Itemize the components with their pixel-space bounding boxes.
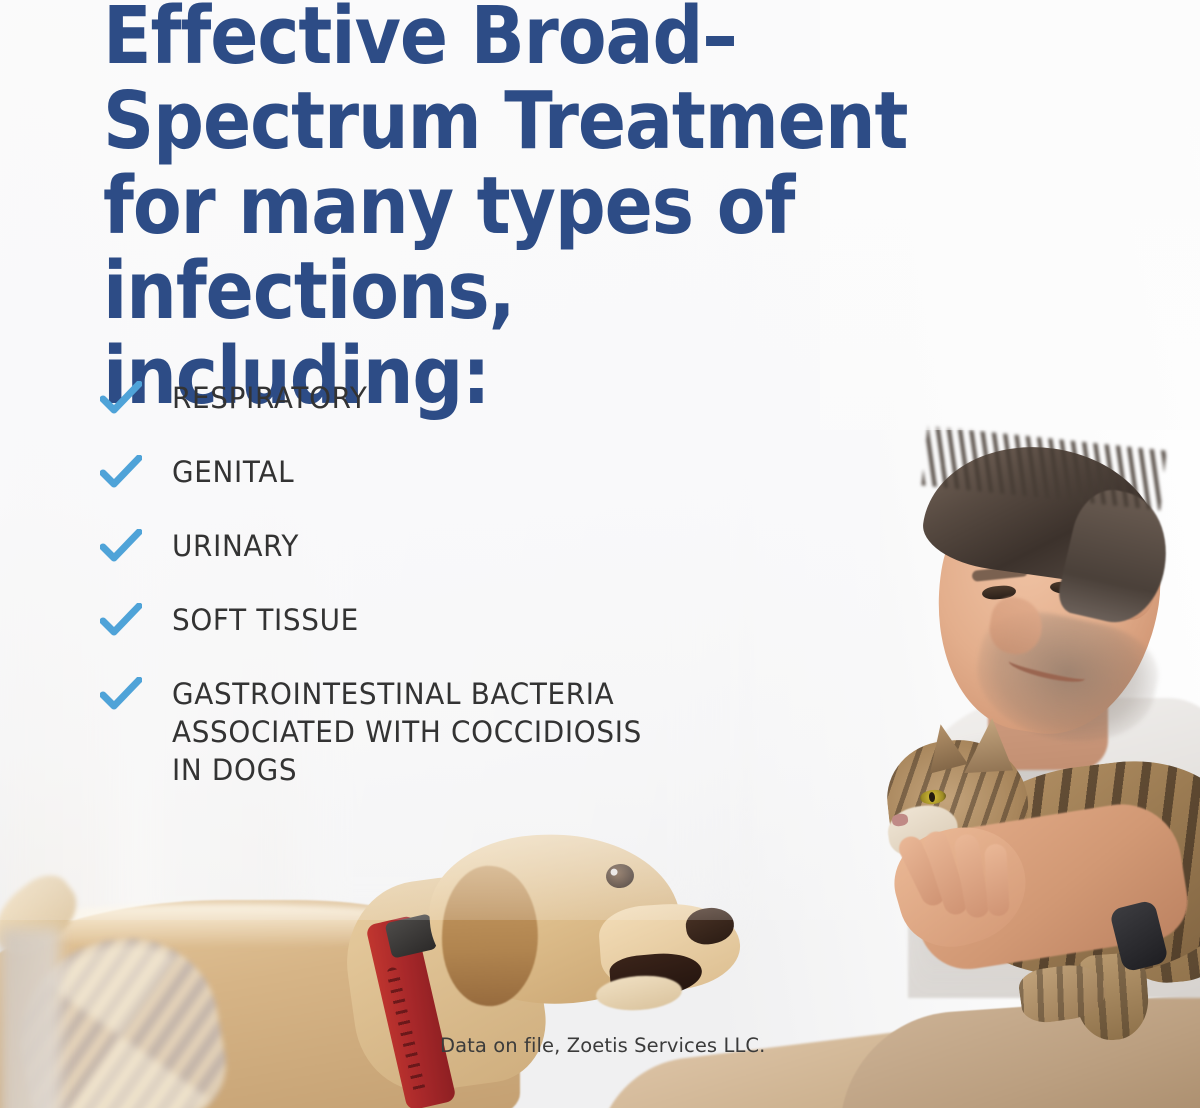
list-item-label: RESPIRATORY: [172, 379, 368, 417]
advertisement-banner: Effective Broad– Spectrum Treatment for …: [0, 0, 1200, 1108]
check-icon: [100, 381, 142, 415]
footnote-citation: Data on file, Zoetis Services LLC.: [440, 1034, 765, 1058]
check-icon: [100, 677, 142, 711]
man-finger: [984, 843, 1010, 916]
list-item-label: GASTROINTESTINAL BACTERIA ASSOCIATED WIT…: [172, 675, 642, 789]
list-item: GENITAL: [100, 453, 890, 491]
check-icon: [100, 455, 142, 489]
list-item: GASTROINTESTINAL BACTERIA ASSOCIATED WIT…: [100, 675, 890, 789]
list-item-label: URINARY: [172, 527, 299, 565]
benefit-list: RESPIRATORY GENITAL URINARY: [100, 379, 890, 789]
list-item: RESPIRATORY: [100, 379, 890, 417]
list-item-label: SOFT TISSUE: [172, 601, 359, 639]
list-item-label: GENITAL: [172, 453, 294, 491]
man-arm-group: [880, 430, 1200, 990]
check-icon: [100, 603, 142, 637]
list-item: URINARY: [100, 527, 890, 565]
check-icon: [100, 529, 142, 563]
page-title: Effective Broad– Spectrum Treatment for …: [103, 0, 913, 419]
list-item: SOFT TISSUE: [100, 601, 890, 639]
